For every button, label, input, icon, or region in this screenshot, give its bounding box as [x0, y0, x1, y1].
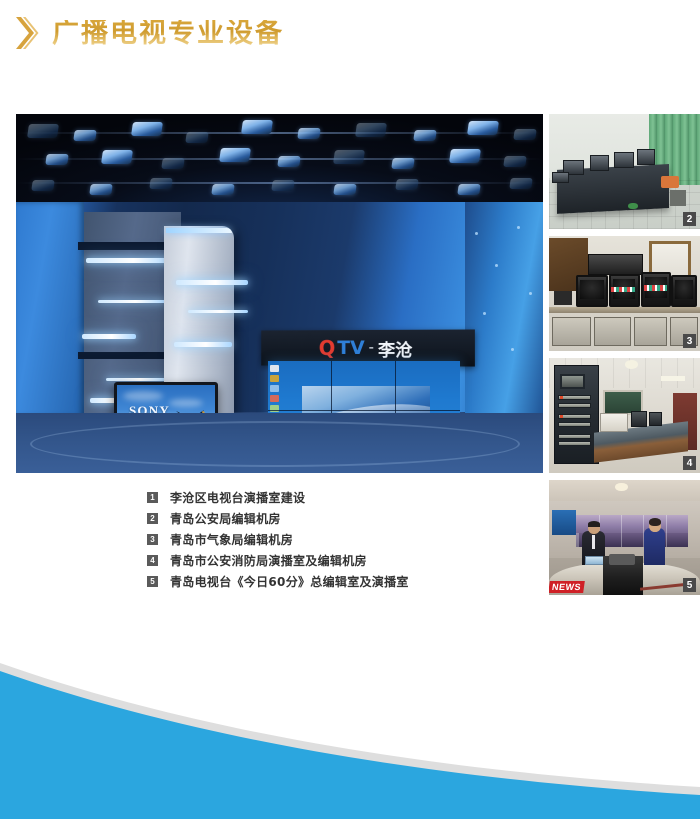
page-root: 广播电视专业设备	[0, 0, 700, 819]
thumbnail-number-4: 4	[683, 456, 696, 470]
thumbnail-number-3: 3	[683, 334, 696, 348]
caption-label: 李沧区电视台演播室建设	[170, 489, 305, 506]
thumbnail-2[interactable]: 2	[549, 114, 700, 229]
caption-label: 青岛公安局编辑机房	[170, 510, 281, 527]
set-panel-left	[16, 202, 84, 417]
caption-number: 1	[147, 492, 158, 503]
anchor-right	[644, 528, 665, 565]
main-studio-photo[interactable]: Q TV - 李沧	[16, 114, 543, 473]
thumbnail-number-2: 2	[683, 212, 696, 226]
qtv-logo-q: Q	[319, 336, 336, 360]
caption-label: 青岛电视台《今日60分》总编辑室及演播室	[170, 573, 409, 590]
thumbnail-5[interactable]: NEWS 5	[549, 480, 700, 595]
caption-row: 3 青岛市气象局编辑机房	[147, 531, 409, 548]
qtv-logo-dash: -	[367, 339, 376, 357]
bottom-wave-decoration	[0, 619, 700, 819]
caption-row: 4 青岛市公安消防局演播室及编辑机房	[147, 552, 409, 569]
caption-number: 5	[147, 576, 158, 587]
studio-floor	[16, 413, 543, 473]
thumbnail-3[interactable]: 3	[549, 236, 700, 351]
page-title: 广播电视专业设备	[52, 20, 284, 47]
caption-row: 1 李沧区电视台演播室建设	[147, 489, 409, 506]
thumbnail-number-5: 5	[683, 578, 696, 592]
caption-number: 3	[147, 534, 158, 545]
thumbnail-column: 2 3	[549, 114, 700, 602]
caption-list: 1 李沧区电视台演播室建设 2 青岛公安局编辑机房 3 青岛市气象局编辑机房 4…	[147, 489, 409, 590]
qtv-logo-tv: TV	[337, 337, 364, 359]
caption-number: 2	[147, 513, 158, 524]
caption-row: 2 青岛公安局编辑机房	[147, 510, 409, 527]
page-header: 广播电视专业设备	[0, 14, 284, 52]
caption-label: 青岛市公安消防局演播室及编辑机房	[170, 552, 367, 569]
news-overlay-text: NEWS	[549, 581, 585, 593]
studio-ceiling	[16, 114, 543, 206]
caption-row: 5 青岛电视台《今日60分》总编辑室及演播室	[147, 573, 409, 590]
caption-label: 青岛市气象局编辑机房	[170, 531, 293, 548]
qtv-logo-cn: 李沧	[378, 335, 412, 360]
caption-number: 4	[147, 555, 158, 566]
set-panel-right	[465, 202, 543, 427]
double-chevron-right-icon	[14, 14, 40, 52]
thumbnail-4[interactable]: 4	[549, 358, 700, 473]
